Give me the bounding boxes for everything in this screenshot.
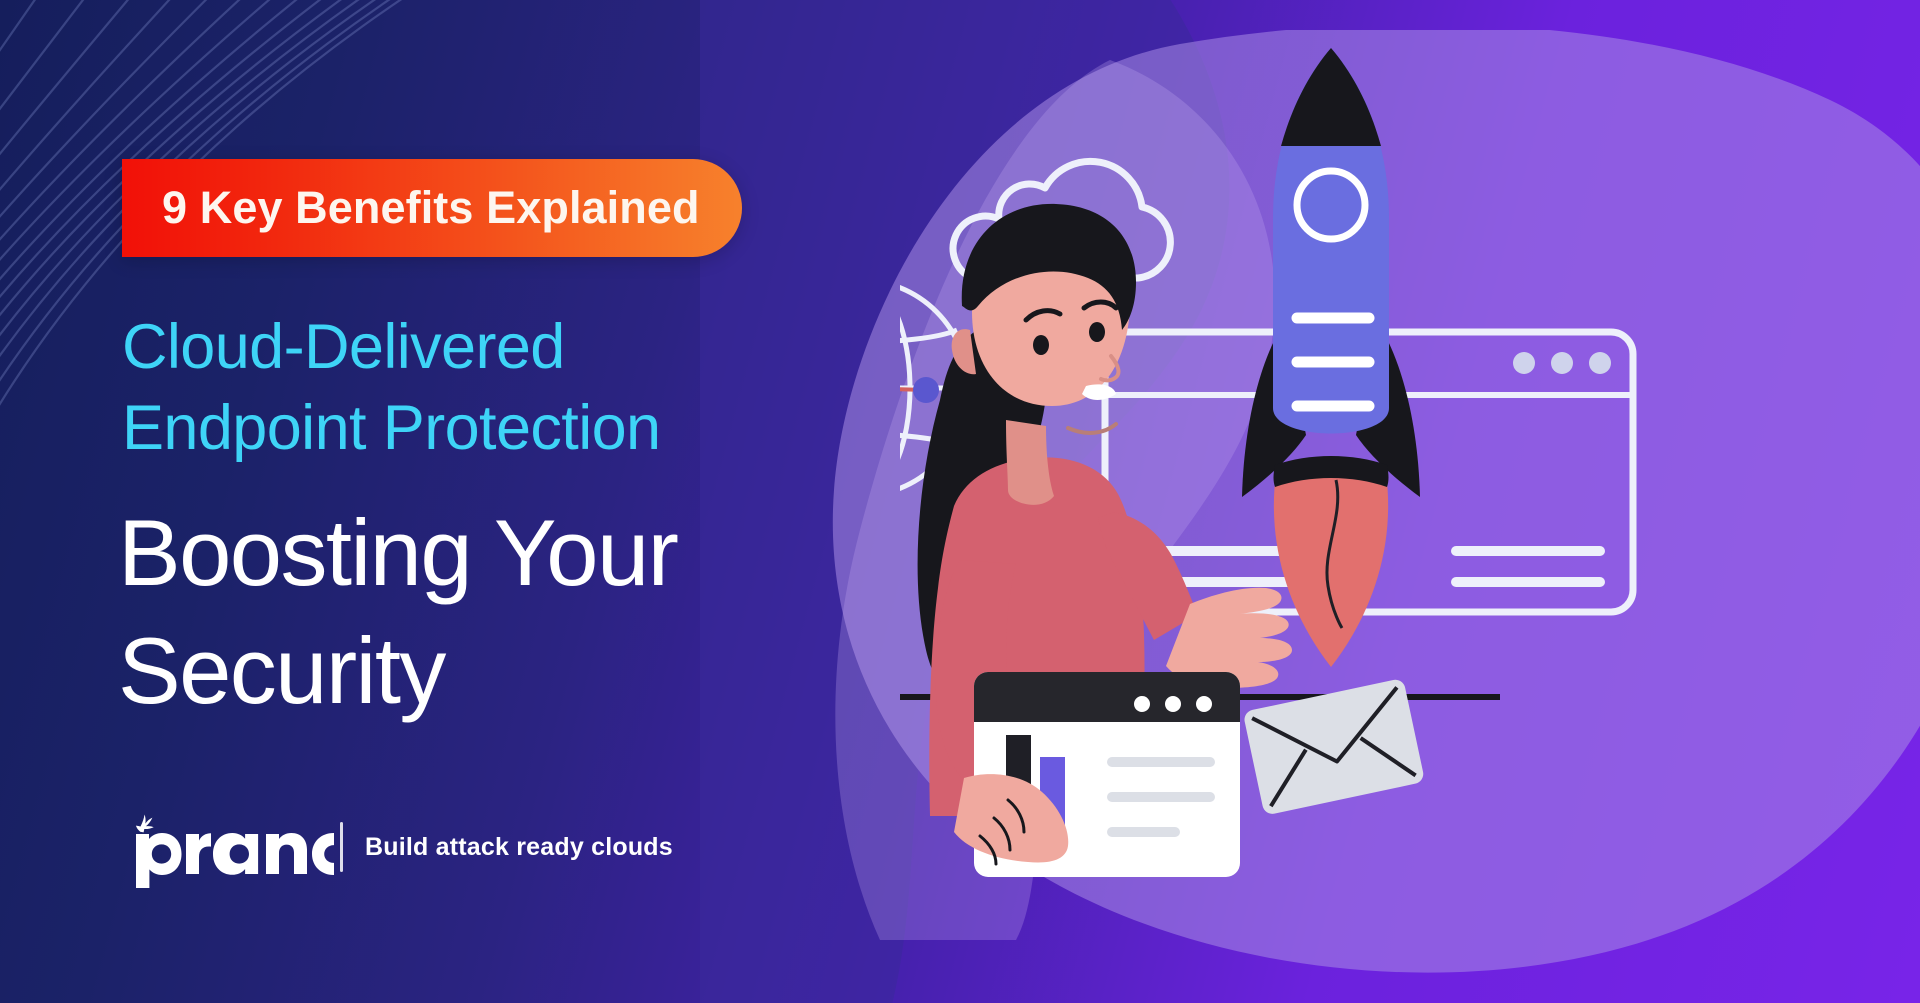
page-title-line-1: Boosting Your — [118, 494, 878, 612]
brand-divider — [340, 822, 343, 872]
subheading: Cloud-Delivered Endpoint Protection — [122, 307, 862, 469]
browser-window-dots — [1513, 352, 1611, 374]
prancer-logo — [122, 818, 332, 876]
hero-illustration — [900, 0, 1920, 1003]
illustration-svg — [900, 0, 1920, 1003]
benefits-badge: 9 Key Benefits Explained — [122, 159, 742, 257]
eye-right — [1089, 322, 1105, 342]
page-title: Boosting Your Security — [118, 494, 878, 730]
brand-tagline: Build attack ready clouds — [365, 833, 673, 862]
laptop-window-dots — [1134, 696, 1212, 712]
subheading-line-1: Cloud-Delivered — [122, 307, 862, 388]
benefits-badge-label: 9 Key Benefits Explained — [162, 182, 700, 234]
page-title-line-2: Security — [118, 612, 878, 730]
banner-canvas: 9 Key Benefits Explained Cloud-Delivered… — [0, 0, 1920, 1003]
subheading-line-2: Endpoint Protection — [122, 388, 862, 469]
brand-lockup: Build attack ready clouds — [122, 818, 673, 876]
rocket-icon — [1242, 48, 1420, 667]
content-column: 9 Key Benefits Explained Cloud-Delivered… — [0, 0, 880, 1003]
eye-left — [1033, 335, 1049, 355]
prancer-wordmark-icon — [122, 804, 334, 888]
